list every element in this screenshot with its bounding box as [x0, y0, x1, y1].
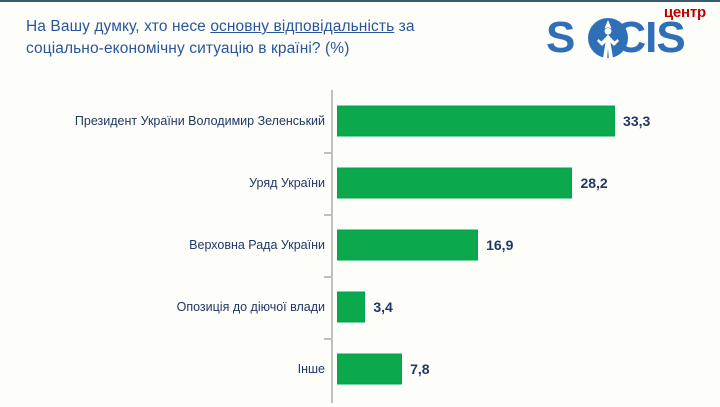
bar[interactable]: [337, 106, 615, 137]
chart-row: Опозиція до діючої влади 3,4: [0, 276, 720, 338]
page-title: На Вашу думку, хто несе основну відповід…: [26, 16, 526, 61]
vitruvian-figure-icon: [587, 17, 629, 59]
value-label: 16,9: [486, 237, 513, 253]
logo-word-pre: S: [546, 13, 574, 62]
bar-chart: Президент України Володимир Зеленський 3…: [0, 90, 720, 405]
category-label: Верховна Рада України: [189, 238, 325, 252]
chart-row: Президент України Володимир Зеленський 3…: [0, 90, 720, 152]
category-label: Уряд України: [249, 176, 325, 190]
chart-row: Інше 7,8: [0, 338, 720, 400]
value-label: 28,2: [580, 175, 607, 191]
title-text-pre: На Вашу думку, хто несе: [26, 18, 210, 35]
category-label: Опозиція до діючої влади: [177, 300, 325, 314]
bar[interactable]: [337, 354, 402, 385]
category-label: Президент України Володимир Зеленський: [75, 114, 325, 128]
title-text-post: за: [394, 18, 414, 35]
chart-row: Верховна Рада України 16,9: [0, 214, 720, 276]
title-text-underlined: основну відповідальність: [210, 18, 394, 35]
title-text-line2: соціально-економічну ситуацію в країні? …: [26, 40, 349, 57]
bar[interactable]: [337, 230, 478, 261]
bar[interactable]: [337, 168, 572, 199]
value-label: 3,4: [373, 299, 392, 315]
value-label: 33,3: [623, 113, 650, 129]
category-label: Інше: [298, 362, 325, 376]
bar[interactable]: [337, 292, 365, 323]
chart-row: Уряд України 28,2: [0, 152, 720, 214]
slide-canvas: На Вашу думку, хто несе основну відповід…: [0, 0, 720, 407]
socis-logo: центр SCIS: [540, 4, 712, 66]
value-label: 7,8: [410, 361, 429, 377]
